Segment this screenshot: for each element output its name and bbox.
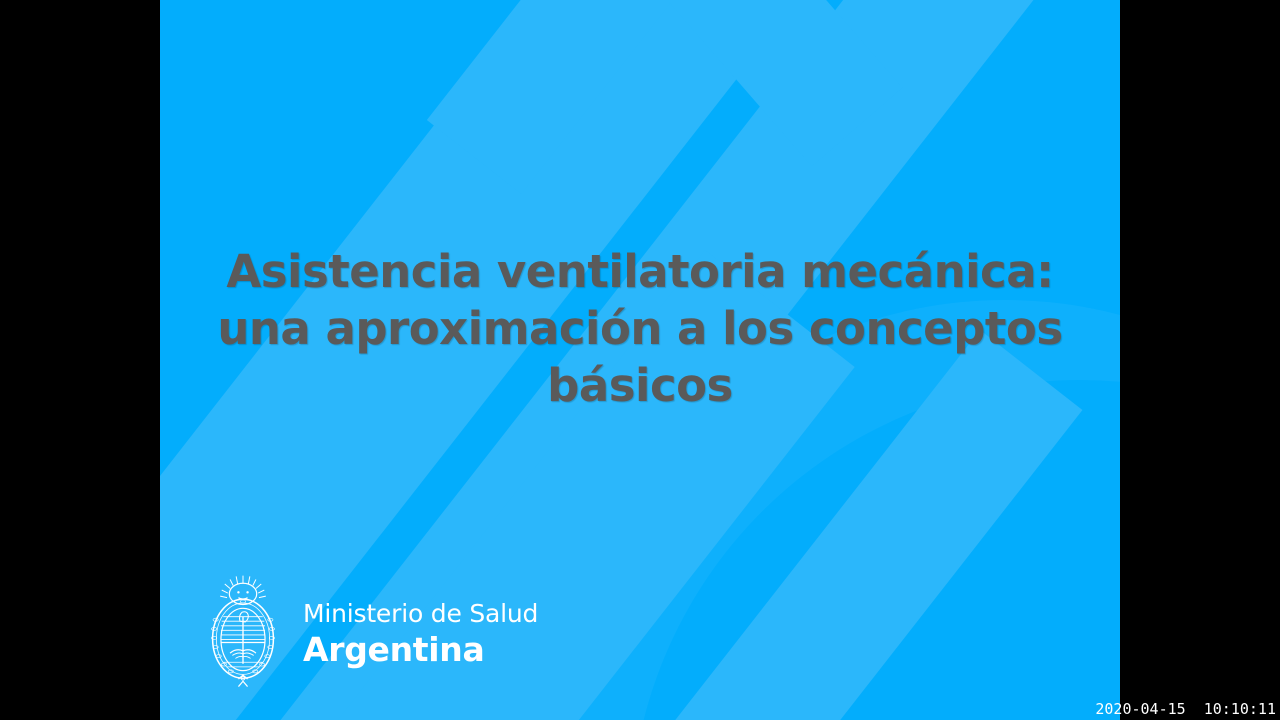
slide-title-line-3: básicos <box>160 357 1120 414</box>
presentation-slide: Asistencia ventilatoria mecánica: una ap… <box>160 0 1120 720</box>
ministry-logo: Ministerio de Salud Argentina <box>205 574 538 692</box>
ministry-logo-line-1: Ministerio de Salud <box>303 601 538 626</box>
background-chevron-stroke-1 <box>427 0 725 194</box>
letterbox-bar-left <box>0 0 160 720</box>
slide-title-line-1: Asistencia ventilatoria mecánica: <box>160 243 1120 300</box>
background-swoosh-cutout <box>630 380 1120 720</box>
background-chevron-stroke-2 <box>615 0 902 166</box>
slide-title-line-2: una aproximación a los conceptos <box>160 300 1120 357</box>
letterbox-bar-right <box>1120 0 1280 720</box>
video-player[interactable]: Asistencia ventilatoria mecánica: una ap… <box>0 0 1280 720</box>
ministry-logo-line-2: Argentina <box>303 633 538 666</box>
argentina-coat-of-arms-icon <box>205 574 281 692</box>
ministry-logo-text: Ministerio de Salud Argentina <box>303 601 538 666</box>
slide-title: Asistencia ventilatoria mecánica: una ap… <box>160 243 1120 414</box>
video-timestamp-overlay: 2020-04-15 10:10:11 <box>1095 700 1276 718</box>
